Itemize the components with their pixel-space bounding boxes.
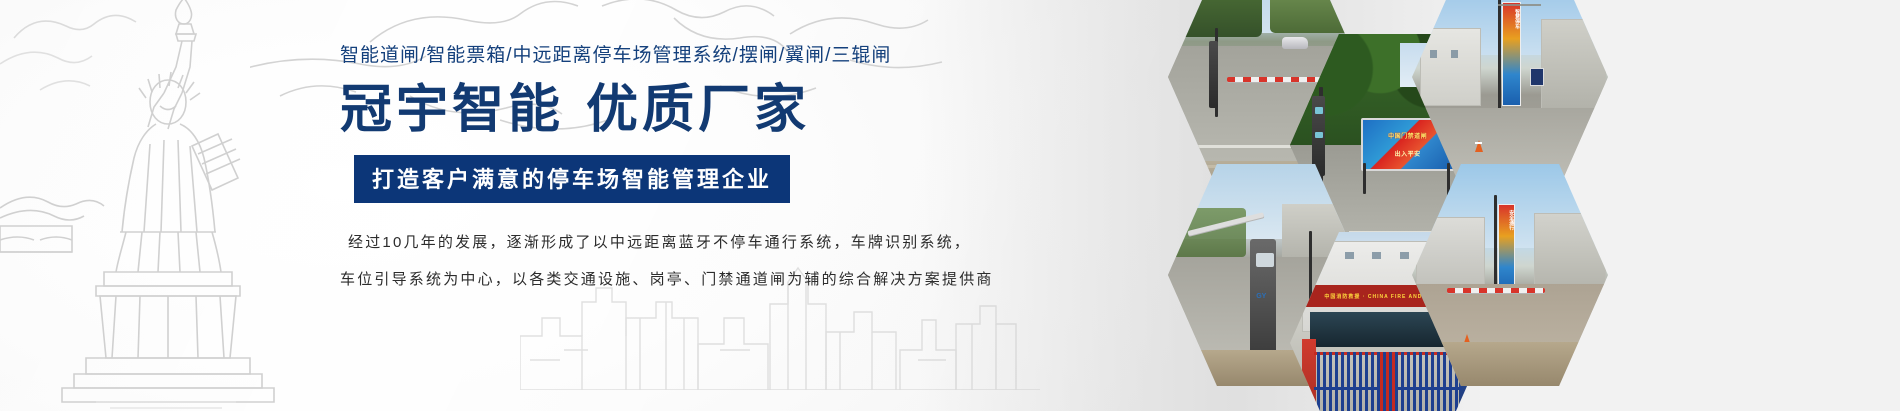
description-paragraph: 经过10几年的发展，逐渐形成了以中远距离蓝牙不停车通行系统，车牌识别系统， 车位… [340, 225, 940, 299]
description-line-2: 车位引导系统为中心，以各类交通设施、岗亭、门禁通道闸为辅的综合解决方案提供商 [340, 262, 940, 299]
headline-text-block: 智能道闸/智能票箱/中远距离停车场管理系统/摆闸/翼闸/三辊闸 冠宇智能优质厂家… [340, 40, 940, 299]
subtitle-badge: 打造客户满意的停车场智能管理企业 [354, 155, 790, 203]
promo-banner: 智能道闸/智能票箱/中远距离停车场管理系统/摆闸/翼闸/三辊闸 冠宇智能优质厂家… [0, 0, 1900, 411]
product-tagline: 智能道闸/智能票箱/中远距离停车场管理系统/摆闸/翼闸/三辊闸 [340, 40, 940, 67]
hexagon-photo-collage: 中国门禁道闸 出入平安 [1140, 0, 1900, 411]
description-line-1: 经过10几年的发展，逐渐形成了以中远距离蓝牙不停车通行系统，车牌识别系统， [340, 225, 940, 262]
headline-slogan: 优质厂家 [586, 81, 810, 139]
page-title: 冠宇智能优质厂家 [340, 81, 940, 139]
headline-brand: 冠宇智能 [340, 81, 564, 139]
